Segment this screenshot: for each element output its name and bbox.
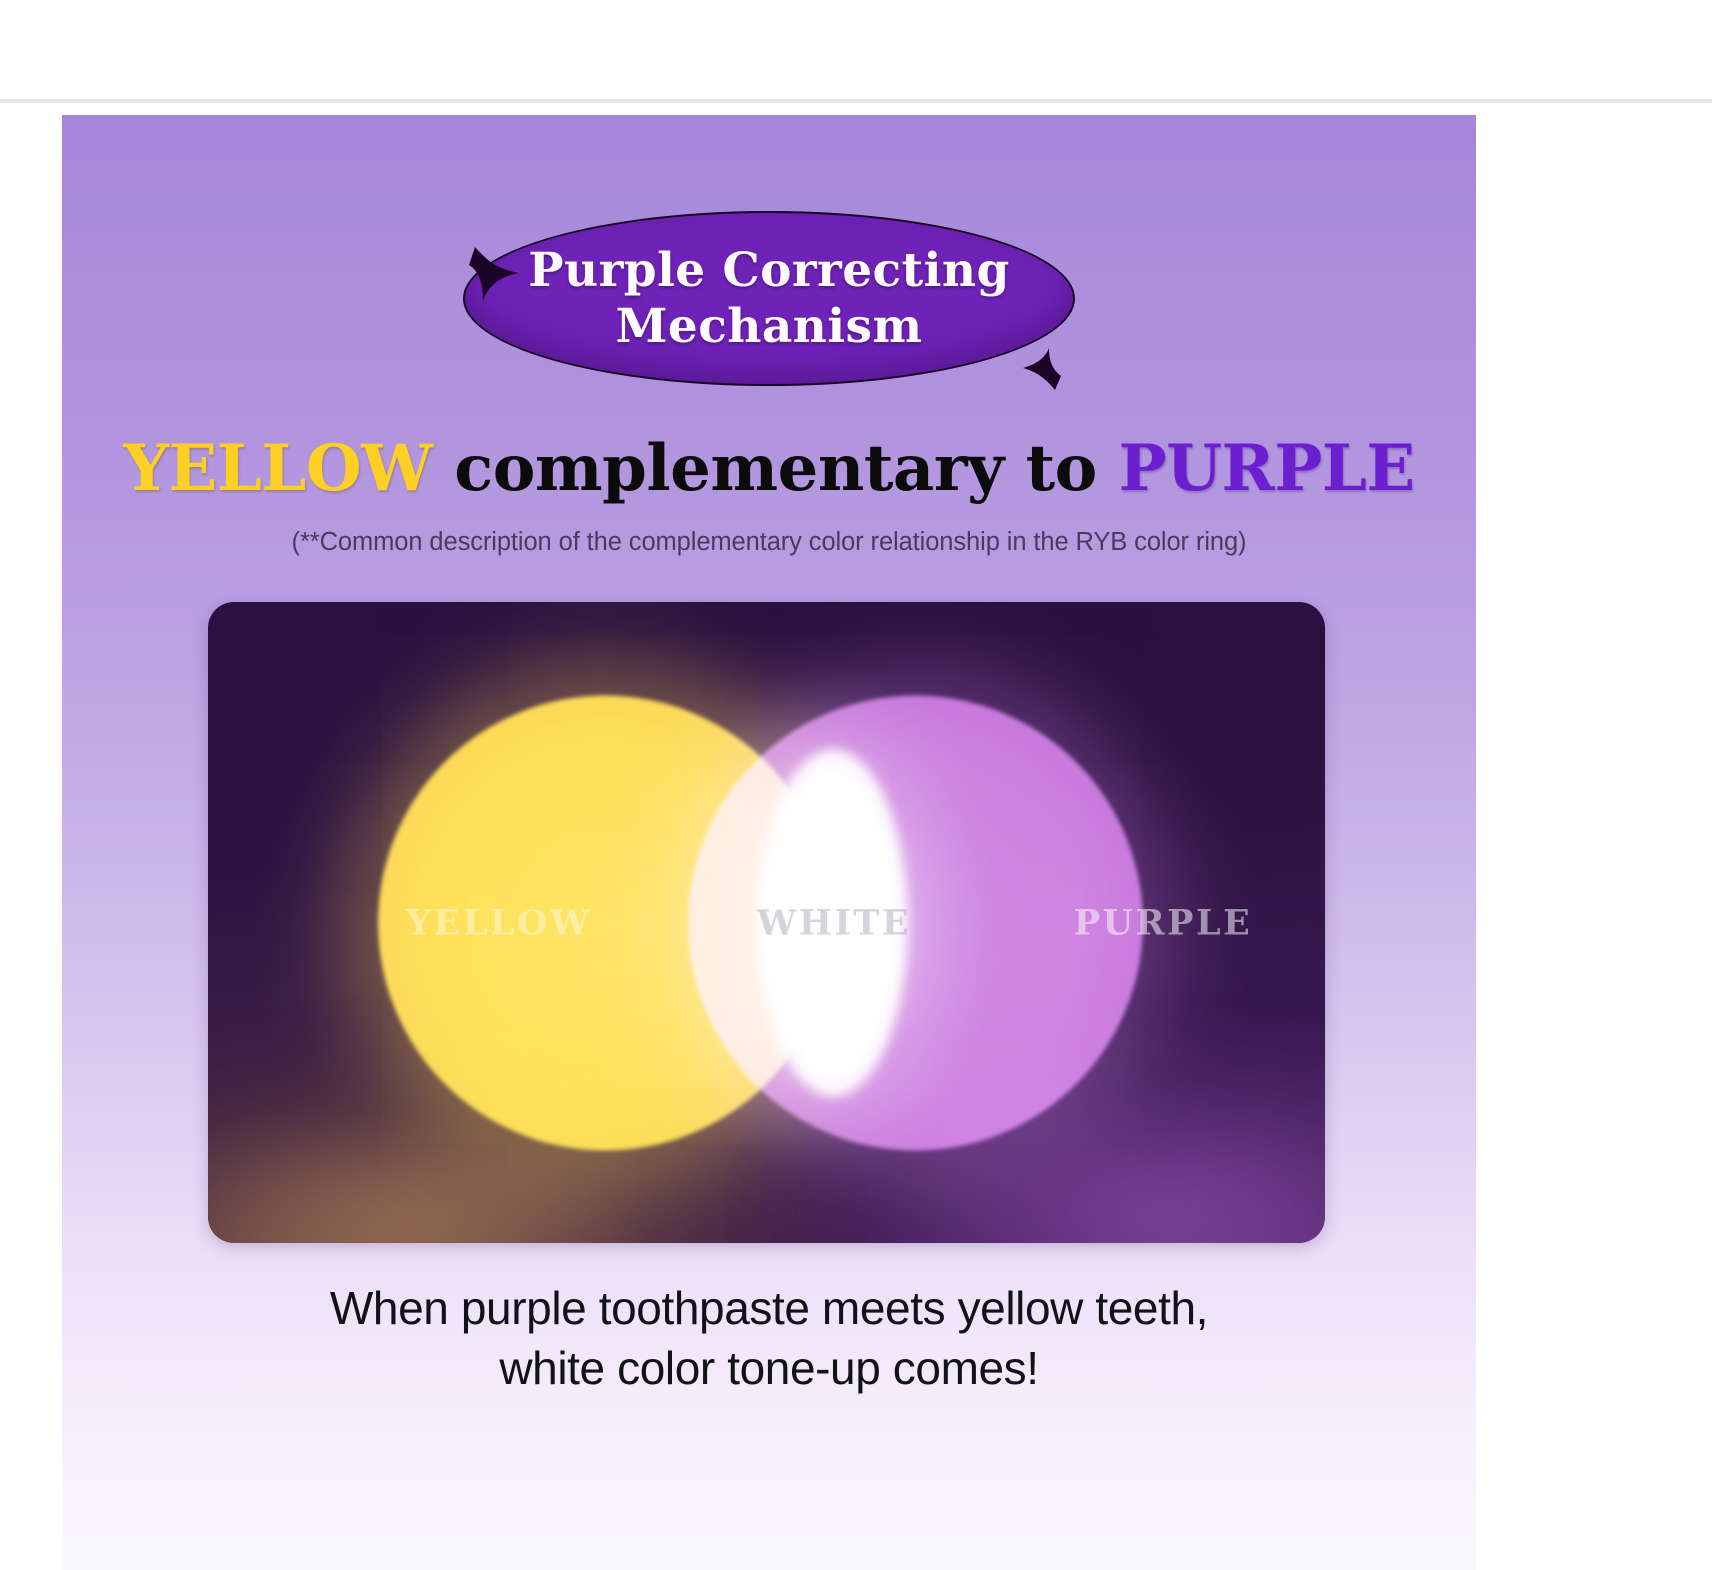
title-badge: Purple Correcting Mechanism	[463, 211, 1075, 386]
panel-label-white: WHITE	[676, 902, 992, 943]
badge-text: Purple Correcting Mechanism	[500, 243, 1037, 354]
badge-container: Purple Correcting Mechanism	[463, 211, 1075, 386]
note-text: (**Common description of the complementa…	[62, 527, 1476, 558]
headline-keyword-purple: PURPLE	[1119, 431, 1415, 506]
section-divider	[0, 99, 1712, 103]
headline: YELLOW complementary to PURPLE	[62, 437, 1476, 501]
color-mixing-panel: YELLOW WHITE PURPLE	[208, 602, 1325, 1243]
caption-line-1: When purple toothpaste meets yellow teet…	[62, 1279, 1476, 1339]
caption-line-2: white color tone-up comes!	[62, 1339, 1476, 1399]
badge-line-1: Purple Correcting	[528, 243, 1009, 298]
headline-keyword-yellow: YELLOW	[123, 431, 432, 506]
caption: When purple toothpaste meets yellow teet…	[62, 1279, 1476, 1399]
panel-label-yellow: YELLOW	[334, 902, 664, 943]
promo-card: Purple Correcting Mechanism YELLOW compl…	[62, 115, 1476, 1570]
sparkle-icon	[1021, 348, 1061, 392]
badge-line-2: Mechanism	[616, 299, 923, 354]
panel-label-purple: PURPLE	[998, 902, 1325, 943]
page-header-blank	[0, 0, 1712, 100]
headline-middle: complementary to	[454, 431, 1097, 506]
